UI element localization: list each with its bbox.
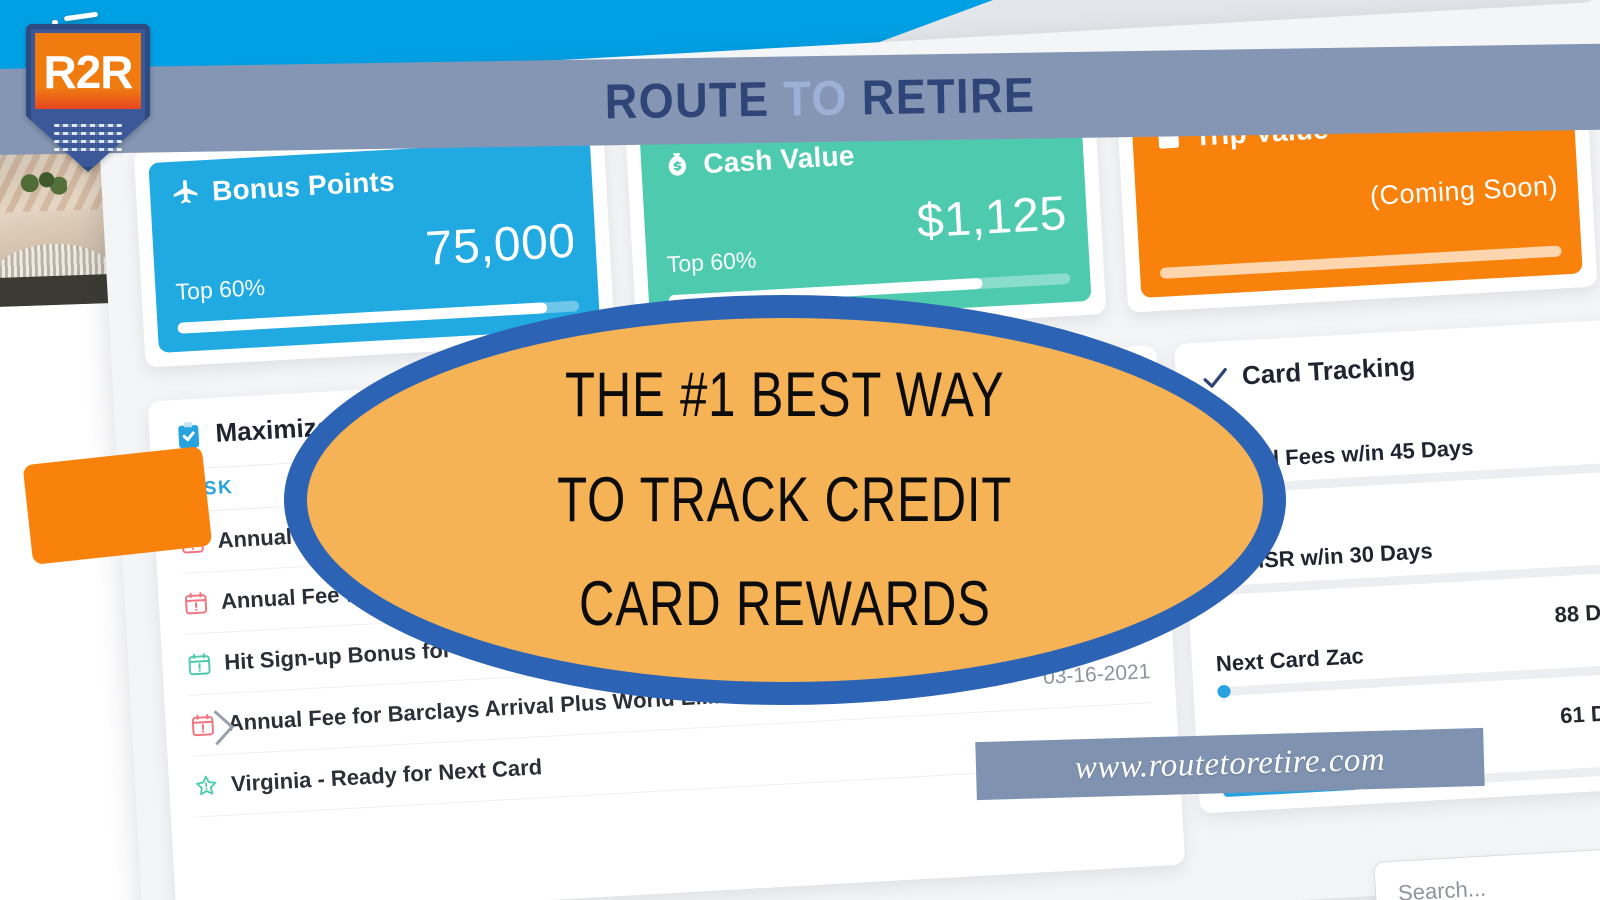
title-overlay-ellipse: THE #1 BEST WAY TO TRACK CREDIT CARD REW… [284,295,1286,705]
clipboard-check-icon [173,419,205,451]
metric-bonus-points-header: Bonus Points [169,156,572,210]
url-watermark-text: www.routetoretire.com [1074,741,1385,787]
task-row-left: Virginia - Ready for Next Card [193,754,543,799]
logo-waves-icon [54,124,122,150]
site-title-part2: TO [783,71,862,126]
star-alert-teal-icon [193,772,220,799]
calendar-alert-teal-icon [186,650,213,677]
search-placeholder: Search... [1397,876,1486,900]
overlay-line-3: CARD REWARDS [579,552,991,657]
screenshot-stage: 2021 Rewards F... Bonus Points 75,000 To… [0,0,1600,900]
money-bag-icon [661,150,695,182]
site-title-part1: ROUTE [604,73,783,130]
site-title: ROUTE TO RETIRE [604,68,1035,131]
metric-bonus-points-subtitle: Top 60% [175,274,266,306]
metric-cash-value-title: Cash Value [702,140,855,180]
calendar-alert-red-icon [182,590,209,617]
left-rail-orange-block [23,446,213,565]
logo-text: R2R [26,40,150,104]
metric-cash-value-value: $1,125 [916,186,1069,249]
tracking-row[interactable]: 88 Days Next Card Zac [1214,598,1600,697]
metric-bonus-points-title: Bonus Points [211,166,395,208]
metric-bonus-points-value: 75,000 [424,214,577,277]
metric-bonus-points-body: Bonus Points 75,000 Top 60% [148,139,600,353]
airplane-icon [169,177,203,209]
photo-trees [13,168,67,199]
metric-trip-value-progress [1160,245,1562,278]
site-title-part3: RETIRE [861,69,1035,126]
metric-trip-value-value: (Coming Soon) [1369,171,1559,212]
overlay-line-2: TO TRACK CREDIT [558,448,1013,553]
task-label: Virginia - Ready for Next Card [230,754,542,797]
r2r-logo: R2R [26,24,150,172]
photo-foreground [0,274,112,307]
overlay-line-1: THE #1 BEST WAY [565,343,1005,448]
metric-cash-value-subtitle: Top 60% [666,246,757,278]
card-tracking-title: Card Tracking [1241,351,1416,392]
